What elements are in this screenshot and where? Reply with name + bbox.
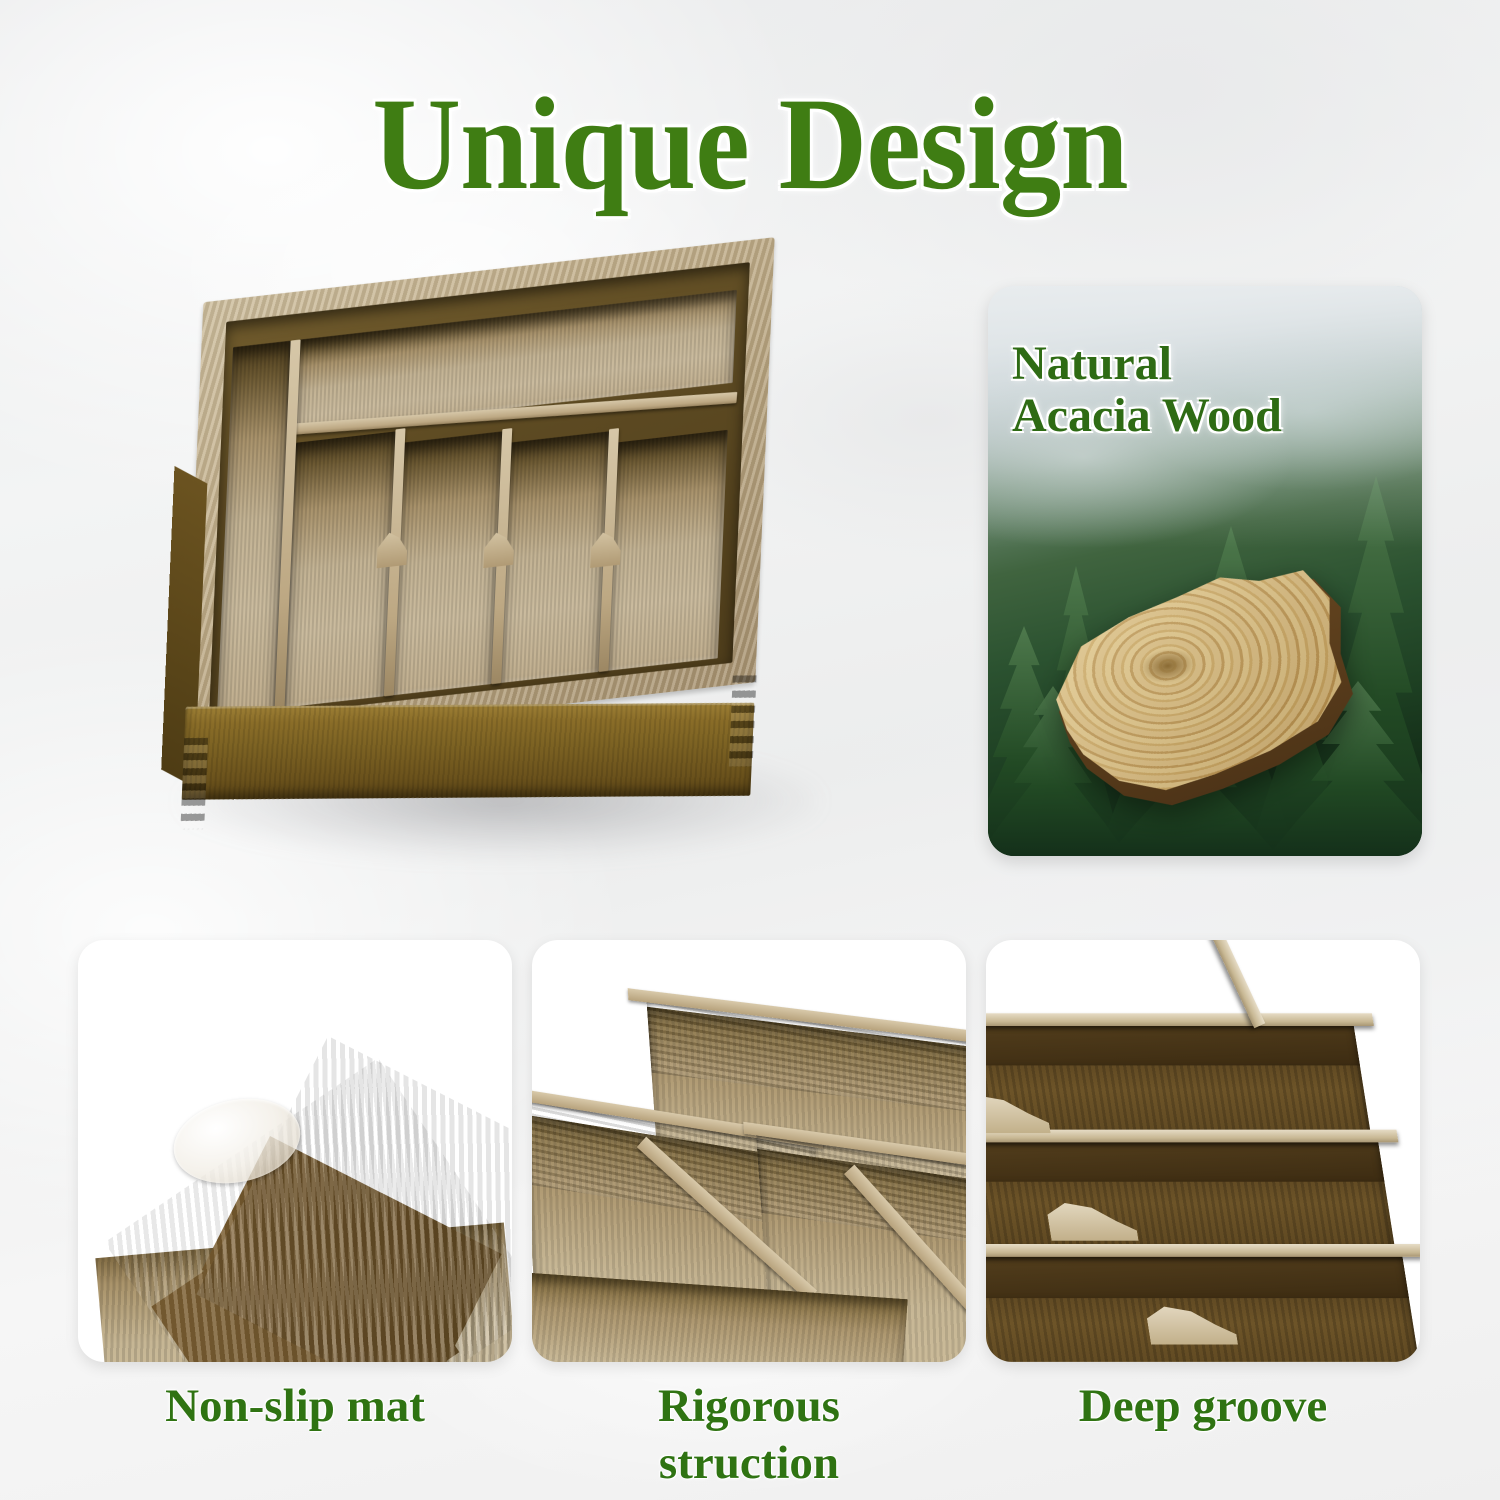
cutlery-tray-illustration [194,237,773,826]
deep-groove-closeup [986,940,1420,1362]
groove-wall-1 [986,1020,1360,1065]
groove-wall-3 [986,1253,1409,1298]
wood-slice-rings [1008,545,1356,810]
acacia-wood-slice [1010,552,1369,826]
tray-slot-4 [606,430,727,671]
natural-acacia-wood-label: Natural Acacia Wood [1012,338,1402,442]
tray-front-wall [182,703,755,800]
page-title: Unique Design [53,78,1448,210]
tray-interior [209,262,750,722]
feature-card-deep-groove [986,940,1420,1362]
groove-wall-2 [986,1138,1384,1181]
tray-dividers-closeup [532,962,966,1362]
tray-dovetail-joint-left [180,738,208,829]
feature-caption-rigorous-struction: Rigorous struction [532,1378,966,1493]
groove-rail-1 [986,1013,1374,1026]
hero-product-image [120,250,860,890]
feature-card-rigorous-struction [532,940,966,1362]
groove-rail-3 [986,1244,1420,1257]
feature-card-non-slip-mat [78,940,512,1362]
tray-slot-1 [285,431,396,707]
natural-acacia-wood-panel: Natural Acacia Wood [988,286,1422,856]
tray-rim-right-face [196,1036,512,1362]
feature-caption-non-slip-mat: Non-slip mat [78,1378,512,1435]
tray-dovetail-joint-right [729,675,757,766]
feature-caption-deep-groove: Deep groove [986,1378,1420,1435]
